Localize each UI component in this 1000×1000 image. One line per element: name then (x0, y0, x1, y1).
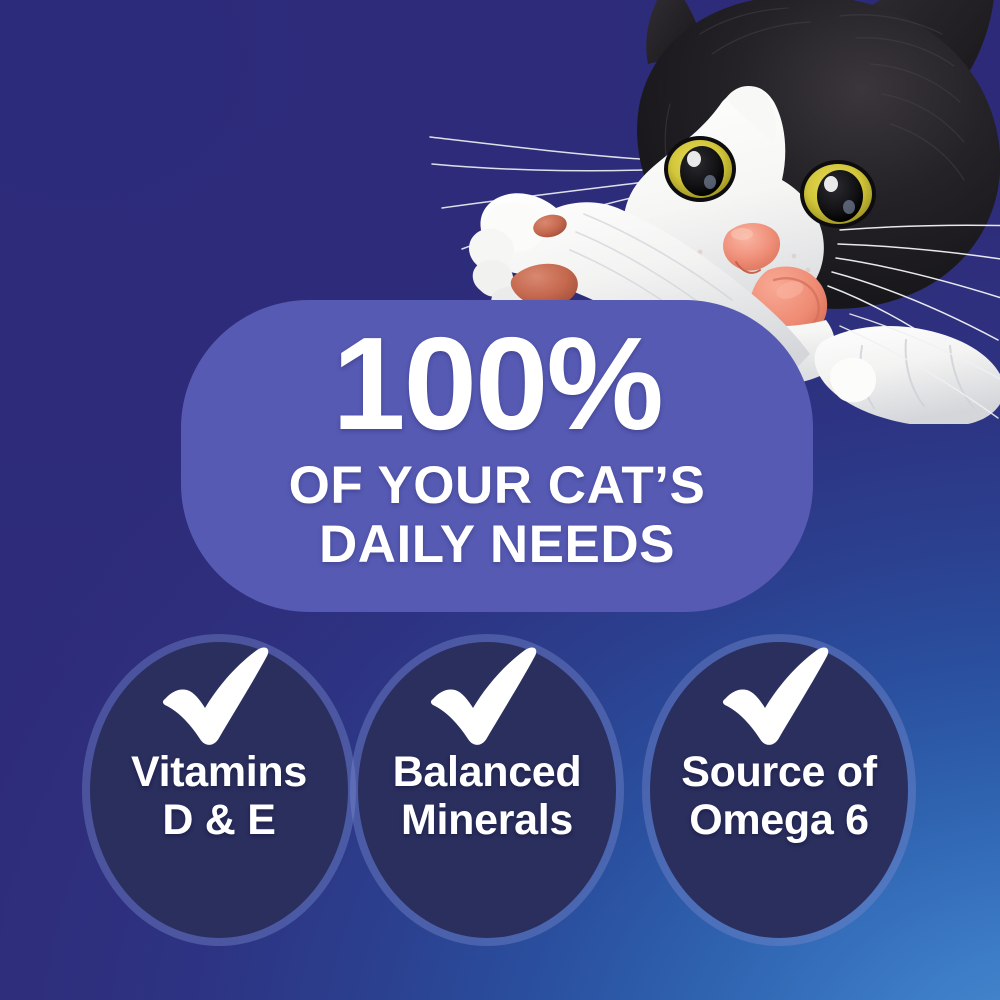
checkmark-icon (721, 652, 837, 744)
claim-panel: 100% OF YOUR CAT’S DAILY NEEDS (181, 300, 813, 612)
checkmark-icon (429, 652, 545, 744)
poster-canvas: 100% OF YOUR CAT’S DAILY NEEDS Vitamins … (0, 0, 1000, 1000)
headline-subline-1: OF YOUR CAT’S (289, 456, 706, 515)
headline-subline-2: DAILY NEEDS (319, 515, 675, 574)
benefit-circle-vitamins: Vitamins D & E (90, 642, 348, 938)
benefit-label: Source of Omega 6 (675, 748, 883, 844)
claim-panel-content: 100% OF YOUR CAT’S DAILY NEEDS (181, 300, 813, 612)
benefit-label: Vitamins D & E (125, 748, 313, 844)
benefit-label: Balanced Minerals (387, 748, 588, 844)
benefit-circle-minerals: Balanced Minerals (358, 642, 616, 938)
benefits-row: Vitamins D & E Balanced Minerals Source … (0, 636, 1000, 946)
checkmark-icon (161, 652, 277, 744)
benefit-circle-omega: Source of Omega 6 (650, 642, 908, 938)
headline-percentage: 100% (332, 318, 662, 450)
